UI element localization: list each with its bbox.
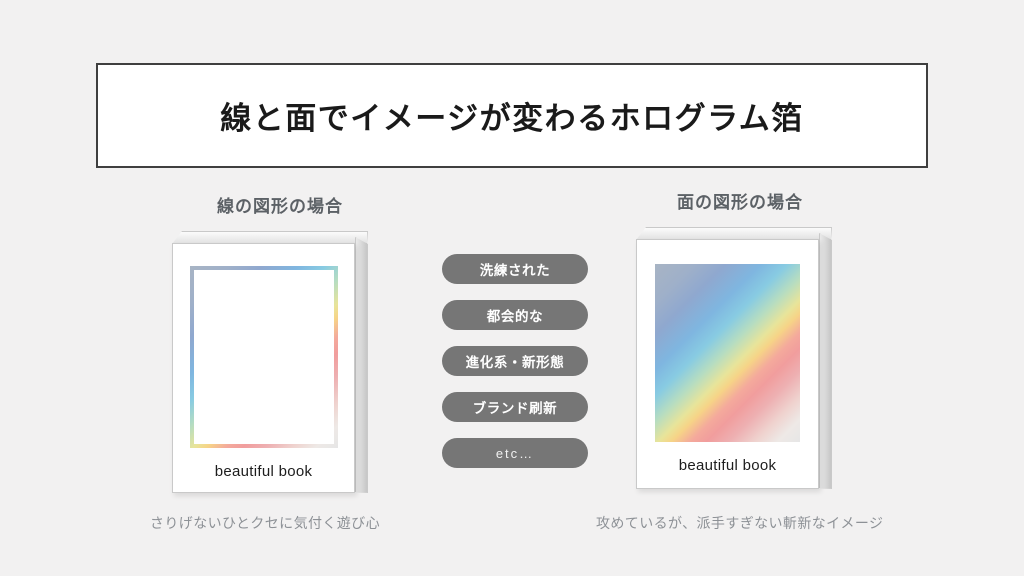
keyword-pill-etc: etc… [442, 438, 588, 468]
book-spine [819, 233, 832, 489]
keyword-pill: 進化系・新形態 [442, 346, 588, 376]
keyword-pill-list: 洗練された 都会的な 進化系・新形態 ブランド刷新 etc… [442, 254, 588, 468]
holographic-outline-artwork [190, 266, 338, 448]
book-mockup-line: beautiful book [172, 231, 368, 493]
holographic-filled-artwork [655, 264, 800, 442]
book-cover: beautiful book [172, 243, 355, 493]
keyword-pill: 洗練された [442, 254, 588, 284]
footer-caption-line: さりげないひとクセに気付く遊び心 [150, 513, 380, 533]
section-label-surface: 面の図形の場合 [630, 188, 850, 213]
book-mockup-surface: beautiful book [636, 227, 832, 489]
footer-caption-surface: 攻めているが、派手すぎない斬新なイメージ [596, 513, 883, 533]
keyword-pill: ブランド刷新 [442, 392, 588, 422]
book-spine [355, 237, 368, 493]
title-box: 線と面でイメージが変わるホログラム箔 [96, 63, 928, 168]
section-label-line: 線の図形の場合 [170, 192, 390, 217]
keyword-pill: 都会的な [442, 300, 588, 330]
book-title-text: beautiful book [679, 457, 777, 474]
book-cover: beautiful book [636, 239, 819, 489]
book-title-text: beautiful book [215, 463, 313, 480]
page-title: 線と面でイメージが変わるホログラム箔 [220, 93, 803, 138]
